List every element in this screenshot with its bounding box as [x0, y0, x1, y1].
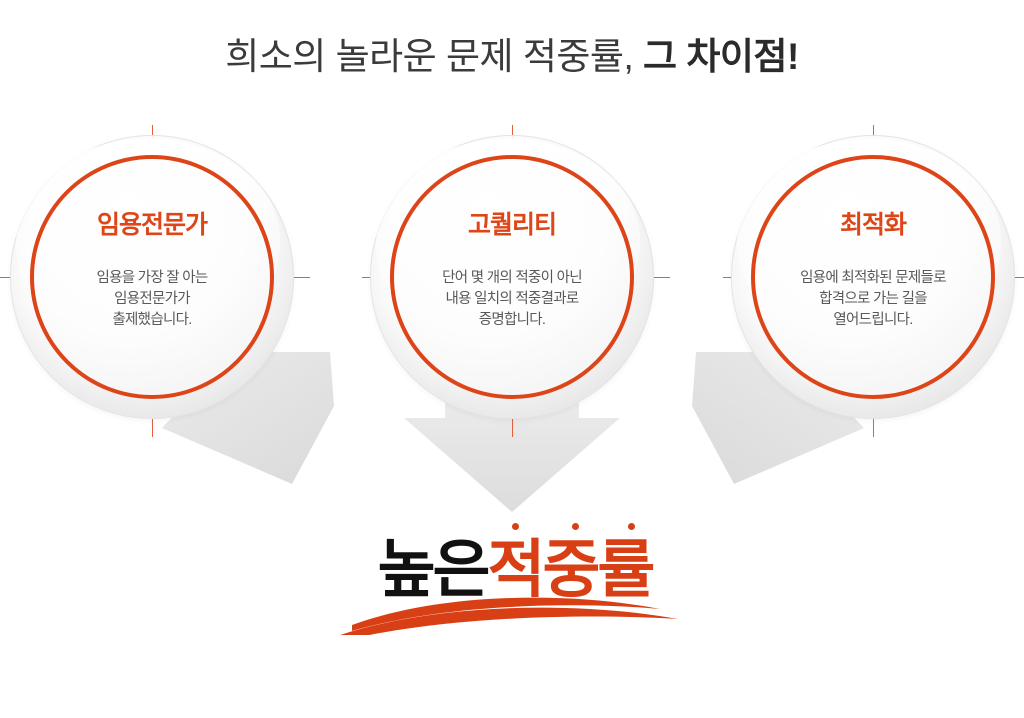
card-expert-body-line-1: 임용을 가장 잘 아는: [32, 268, 272, 289]
card-expert[interactable]: 임용전문가 임용을 가장 잘 아는 임용전문가가 출제했습니다.: [10, 135, 294, 419]
card-optimized-body-line-1: 임용에 최적화된 문제들로: [753, 268, 993, 289]
card-optimized[interactable]: 최적화 임용에 최적화된 문제들로 합격으로 가는 길을 열어드립니다.: [731, 135, 1015, 419]
card-quality-body-line-1: 단어 몇 개의 적중이 아닌: [392, 268, 632, 289]
infographic-canvas: 희소의 놀라운 문제 적중률, 그 차이점!: [0, 0, 1024, 718]
card-optimized-body: 임용에 최적화된 문제들로 합격으로 가는 길을 열어드립니다.: [753, 268, 993, 331]
card-expert-body: 임용을 가장 잘 아는 임용전문가가 출제했습니다.: [32, 268, 272, 331]
card-optimized-body-line-3: 열어드립니다.: [753, 310, 993, 331]
card-quality-title: 고퀄리티: [370, 205, 654, 241]
card-quality-body-line-2: 내용 일치의 적중결과로: [392, 289, 632, 310]
card-quality[interactable]: 고퀄리티 단어 몇 개의 적중이 아닌 내용 일치의 적중결과로 증명합니다.: [370, 135, 654, 419]
accent-dot-1: [512, 523, 519, 530]
card-optimized-body-line-2: 합격으로 가는 길을: [753, 289, 993, 310]
accent-dot-2: [572, 523, 579, 530]
card-quality-body: 단어 몇 개의 적중이 아닌 내용 일치의 적중결과로 증명합니다.: [392, 268, 632, 331]
card-quality-body-line-3: 증명합니다.: [392, 310, 632, 331]
card-expert-body-line-3: 출제했습니다.: [32, 310, 272, 331]
card-optimized-title: 최적화: [731, 205, 1015, 241]
swoosh-underline: [330, 565, 700, 635]
card-expert-body-line-2: 임용전문가가: [32, 289, 272, 310]
card-expert-title: 임용전문가: [10, 205, 294, 241]
footer-logotype: 높은적중률: [330, 505, 700, 645]
accent-dot-3: [628, 523, 635, 530]
